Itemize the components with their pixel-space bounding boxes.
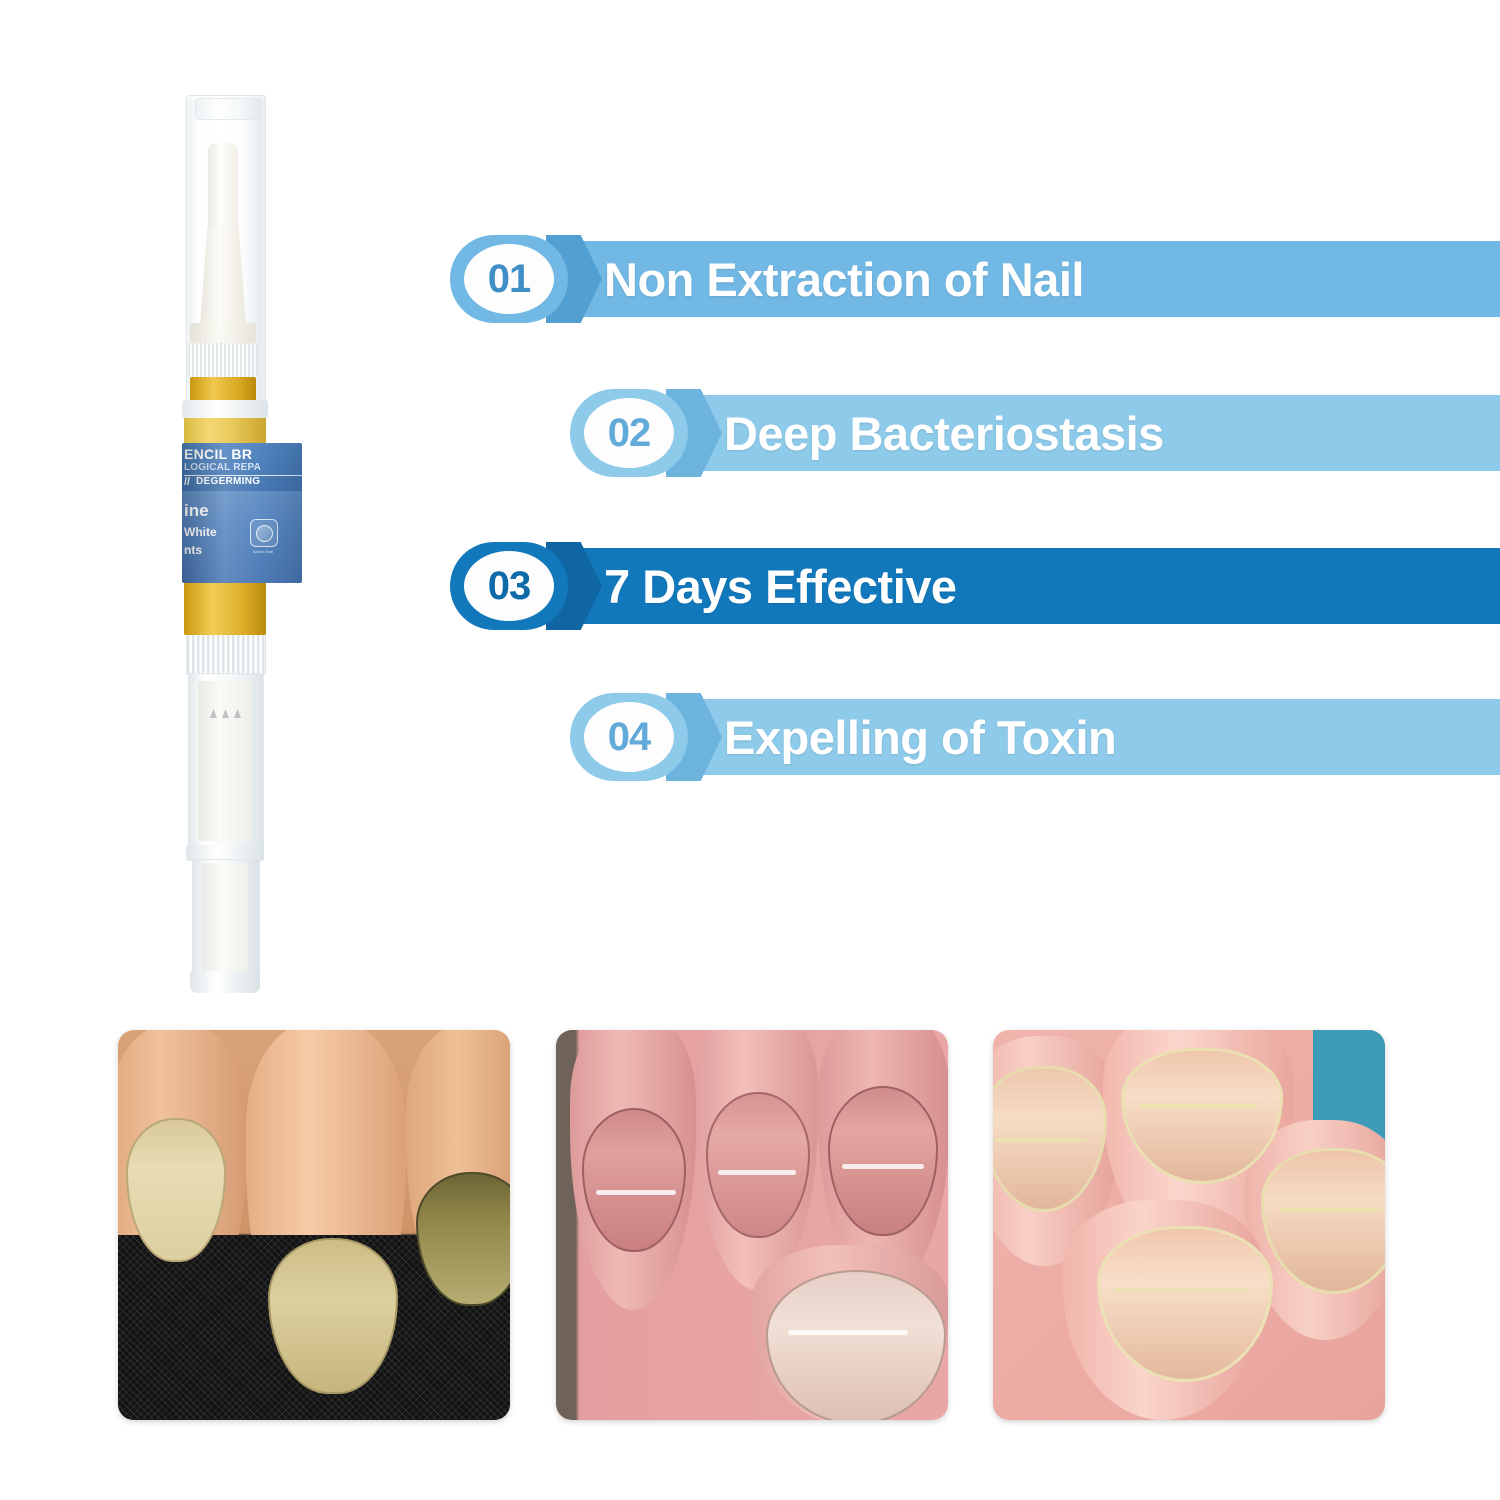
feature-label: 7 Days Effective [604, 548, 957, 624]
seal-icon [250, 519, 278, 547]
pen-body-ring [182, 400, 268, 418]
label-variant-line: ine [184, 501, 209, 521]
label-degerming-line: DEGERMING [196, 476, 260, 487]
twist-collar-ridges [186, 635, 266, 675]
nail-flake [788, 1330, 908, 1335]
nail-ridge [1279, 1208, 1383, 1212]
feature-bar: Expelling of Toxin [690, 699, 1500, 775]
brush-neck [200, 227, 246, 325]
feature-badge: 04 [570, 693, 688, 781]
feature-badge: 02 [570, 389, 688, 477]
infographic-canvas: ENCIL BR LOGICAL REPA // DEGERMING ine W… [0, 0, 1500, 1500]
feature-badge: 03 [450, 542, 568, 630]
feature-badge-circle: 04 [584, 702, 674, 772]
feature-bar: Non Extraction of Nail [570, 241, 1500, 317]
feature-number: 01 [488, 259, 531, 299]
cap-collar-ridges [188, 343, 258, 377]
label-subtitle-line: LOGICAL REPA [184, 462, 261, 473]
inflamed-nail [766, 1270, 946, 1420]
feature-badge-circle: 03 [464, 551, 554, 621]
feature-label: Non Extraction of Nail [604, 241, 1084, 317]
feature-badge: 01 [450, 235, 568, 323]
nail-flake [842, 1164, 924, 1169]
product-pen-image: ENCIL BR LOGICAL REPA // DEGERMING ine W… [176, 95, 274, 995]
liquid-lower-band [184, 583, 266, 635]
feature-label: Deep Bacteriostasis [724, 395, 1164, 471]
feature-badge-circle: 01 [464, 244, 554, 314]
feature-number: 04 [608, 717, 651, 757]
condition-photo-3 [993, 1030, 1385, 1420]
pen-cap-top [195, 98, 261, 120]
nail-ridge [1115, 1288, 1247, 1292]
label-brand-line: ENCIL BR [184, 446, 252, 462]
nail-ridge [1139, 1104, 1257, 1108]
seal-icon-inner [256, 525, 273, 542]
label-slash-mark: // [184, 476, 190, 488]
feature-label: Expelling of Toxin [724, 699, 1116, 775]
condition-photo-1 [118, 1030, 510, 1420]
brush-base [190, 323, 256, 345]
label-ingredients-line: nts [184, 543, 202, 557]
feature-bar: Deep Bacteriostasis [690, 395, 1500, 471]
feature-bar: 7 Days Effective [570, 548, 1500, 624]
brush-applicator-tip [208, 143, 238, 231]
condition-photo-2 [556, 1030, 948, 1420]
feature-badge-circle: 02 [584, 398, 674, 468]
pen-tail-plunger [202, 863, 248, 975]
feature-number: 03 [488, 566, 531, 606]
product-label: ENCIL BR LOGICAL REPA // DEGERMING ine W… [182, 443, 302, 583]
nail-flake [596, 1190, 676, 1195]
seal-caption: Active Seal [253, 549, 273, 554]
pen-barrel-plunger [198, 681, 252, 841]
nail-flake [718, 1170, 796, 1175]
nail-ridge [995, 1138, 1087, 1142]
feature-number: 02 [608, 413, 651, 453]
pen-tail-end [190, 971, 260, 993]
label-white-line: White [184, 525, 217, 539]
